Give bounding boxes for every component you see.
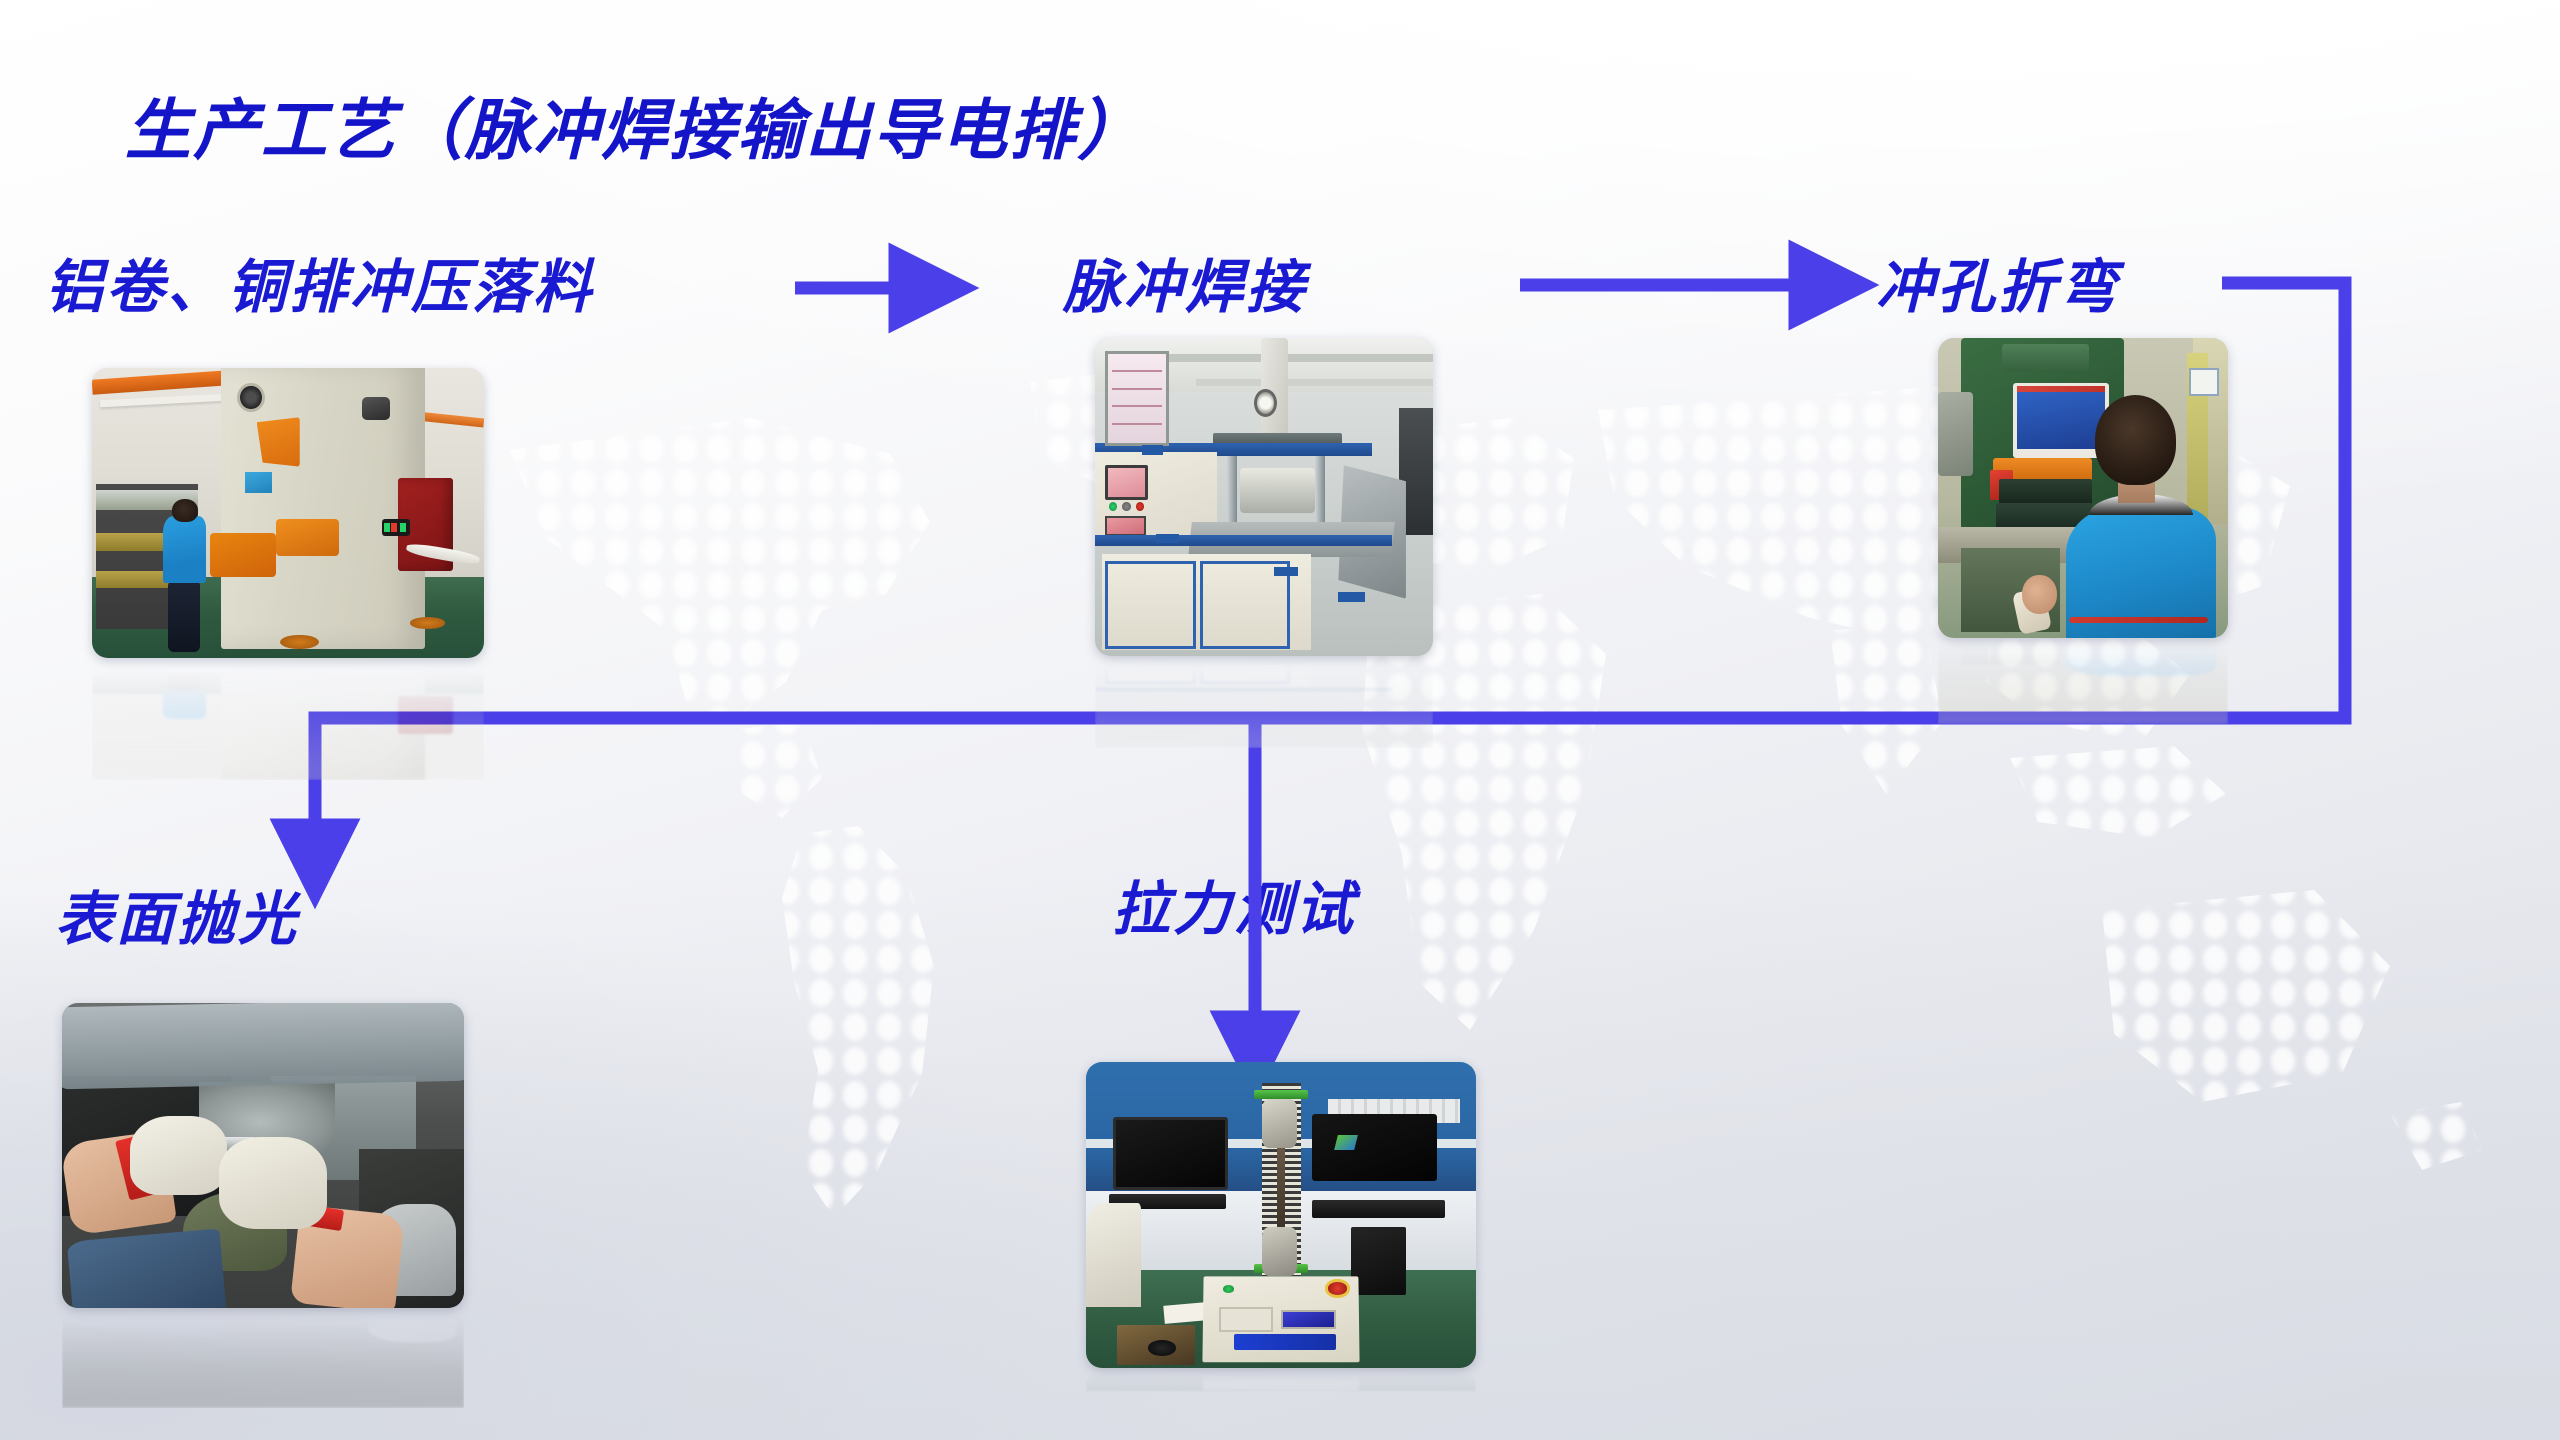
stamping-press-scene <box>92 368 484 658</box>
step-label-3: 冲孔折弯 <box>1876 258 2120 316</box>
punching-bending-photo <box>1938 338 2228 638</box>
stamping-press-photo <box>92 368 484 658</box>
tensile-test-scene <box>1086 1062 1476 1368</box>
pulse-welding-scene <box>1095 338 1433 656</box>
tensile-test-photo <box>1086 1062 1476 1368</box>
step-label-5: 拉力测试 <box>1112 880 1356 938</box>
pulse-welding-machine-photo <box>1095 338 1433 656</box>
slide-canvas: 生产工艺（脉冲焊接输出导电排） 铝卷、铜排冲压落料 脉冲焊接 冲孔折弯 表面抛光… <box>0 0 2560 1440</box>
surface-polishing-scene <box>62 1003 464 1308</box>
surface-polishing-photo <box>62 1003 464 1308</box>
slide-title: 生产工艺（脉冲焊接输出导电排） <box>125 97 1145 163</box>
step-label-2: 脉冲焊接 <box>1063 258 1307 316</box>
punching-bending-scene <box>1938 338 2228 638</box>
step-label-1: 铝卷、铜排冲压落料 <box>45 258 594 316</box>
step-label-4: 表面抛光 <box>55 890 299 948</box>
